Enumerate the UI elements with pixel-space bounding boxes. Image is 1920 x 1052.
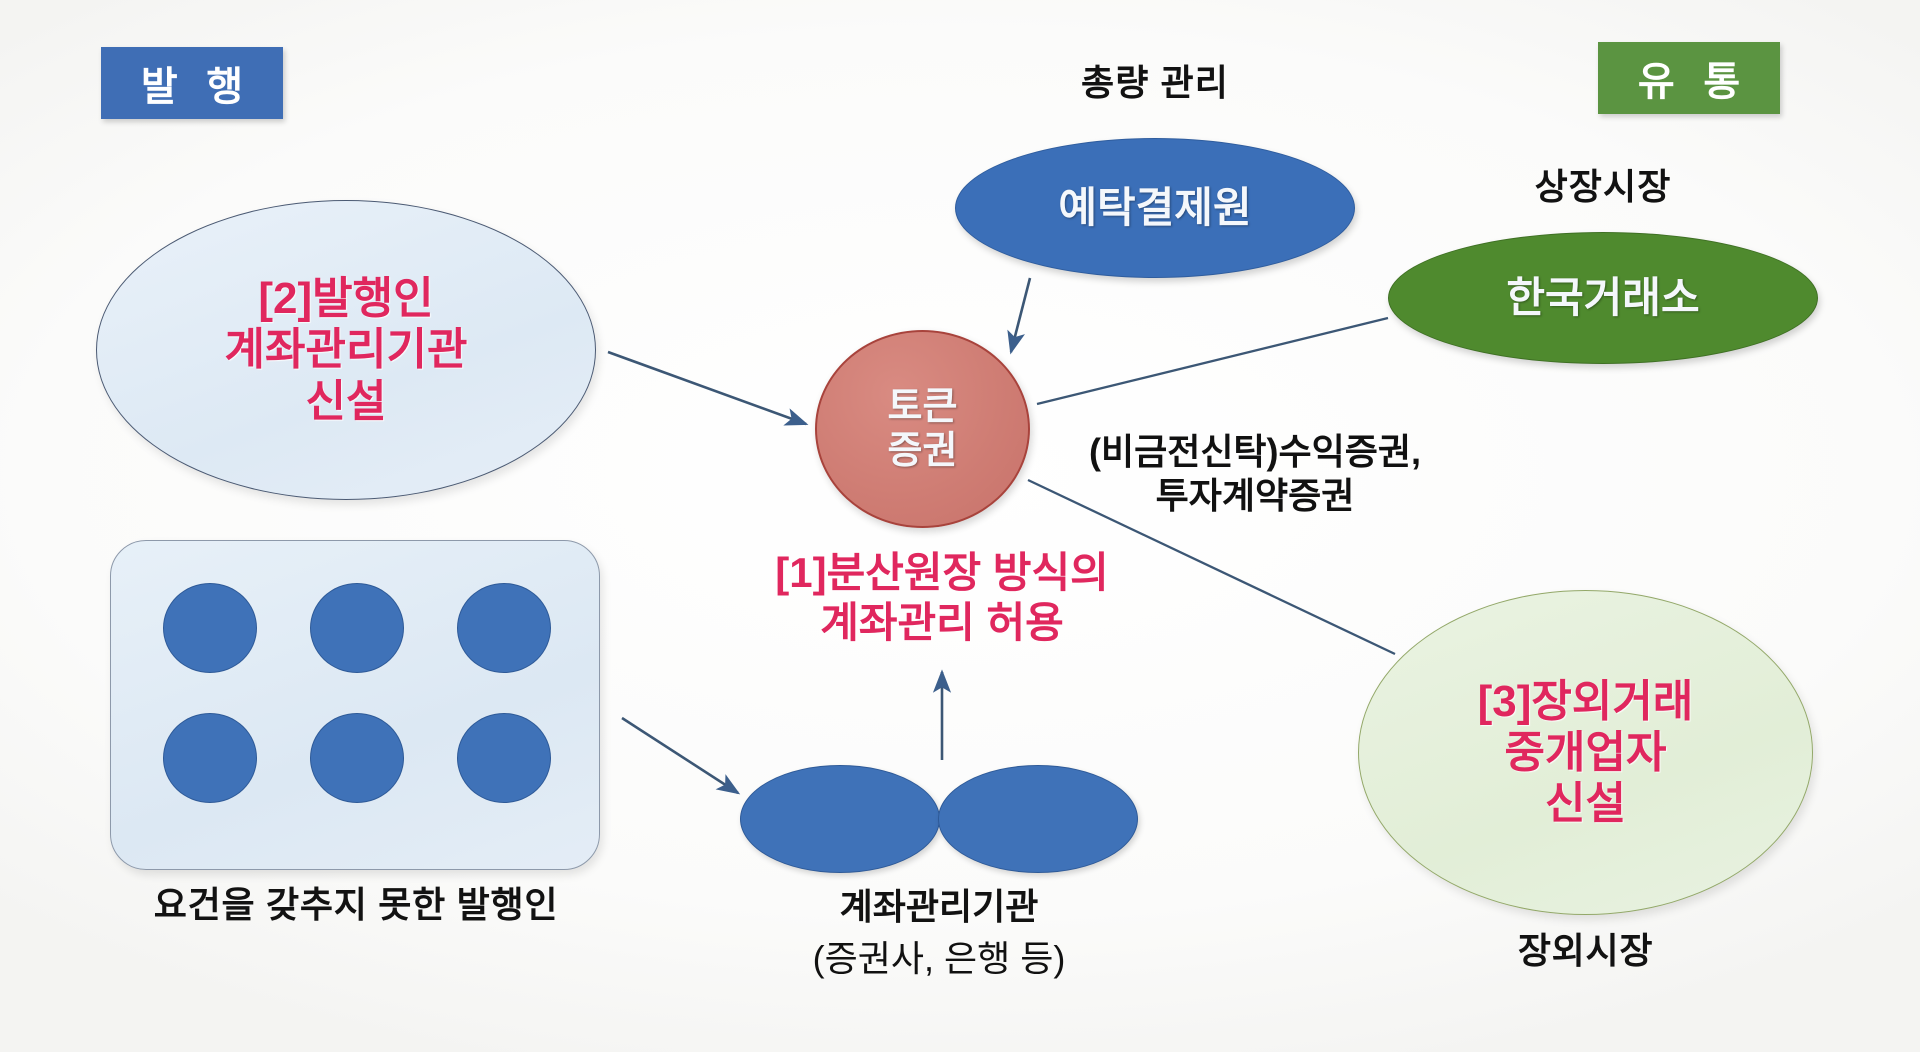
node-krx: 한국거래소 [1388,232,1818,364]
issuer-dot [163,583,257,673]
issuer-dot [457,713,551,803]
issuer-dot [310,713,404,803]
diagram-canvas: 발 행 유 통 [2]발행인 계좌관리기관 신설 요건을 갖추지 못한 발행인 … [0,0,1920,1052]
node-token-security: 토큰 증권 [815,330,1030,528]
caption-otc-market: 장외시장 [1358,930,1813,972]
node-krx-label: 한국거래소 [1506,274,1699,323]
caption-account-institution-detail: (증권사, 은행 등) [738,938,1140,980]
caption-non-qualified-issuer: 요건을 갖추지 못한 발행인 [96,884,616,926]
node-account-institution-right [938,765,1138,873]
annotation-security-types: (비금전신탁)수익증권, 투자계약증권 [1040,430,1470,518]
node-otc-broker-label: [3]장외거래 중개업자 신설 [1478,676,1694,829]
issuer-dot [163,713,257,803]
connector-krx-to-token [1037,318,1388,404]
node-ksd: 예탁결제원 [955,138,1355,278]
issuer-dot [457,583,551,673]
connector-nonqualified-to-account [622,718,738,793]
node-account-institution-left [740,765,940,873]
badge-distribution: 유 통 [1598,42,1780,114]
caption-account-institution: 계좌관리기관 [738,886,1140,928]
node-non-qualified-issuers [110,540,600,870]
connector-issuer-to-token [608,352,806,424]
node-issuer-account-institution: [2]발행인 계좌관리기관 신설 [96,200,596,500]
node-token-security-label: 토큰 증권 [888,385,958,473]
issuer-dot [310,583,404,673]
node-otc-broker: [3]장외거래 중개업자 신설 [1358,590,1813,915]
caption-krx-role: 상장시장 [1388,166,1818,208]
badge-issuance: 발 행 [101,47,283,119]
connector-ksd-to-token [1011,278,1030,352]
annotation-distributed-ledger: [1]분산원장 방식의 계좌관리 허용 [686,548,1198,647]
node-ksd-label: 예탁결제원 [1058,184,1251,233]
node-issuer-account-institution-label: [2]발행인 계좌관리기관 신설 [225,273,468,426]
caption-ksd-role: 총량 관리 [955,62,1355,104]
